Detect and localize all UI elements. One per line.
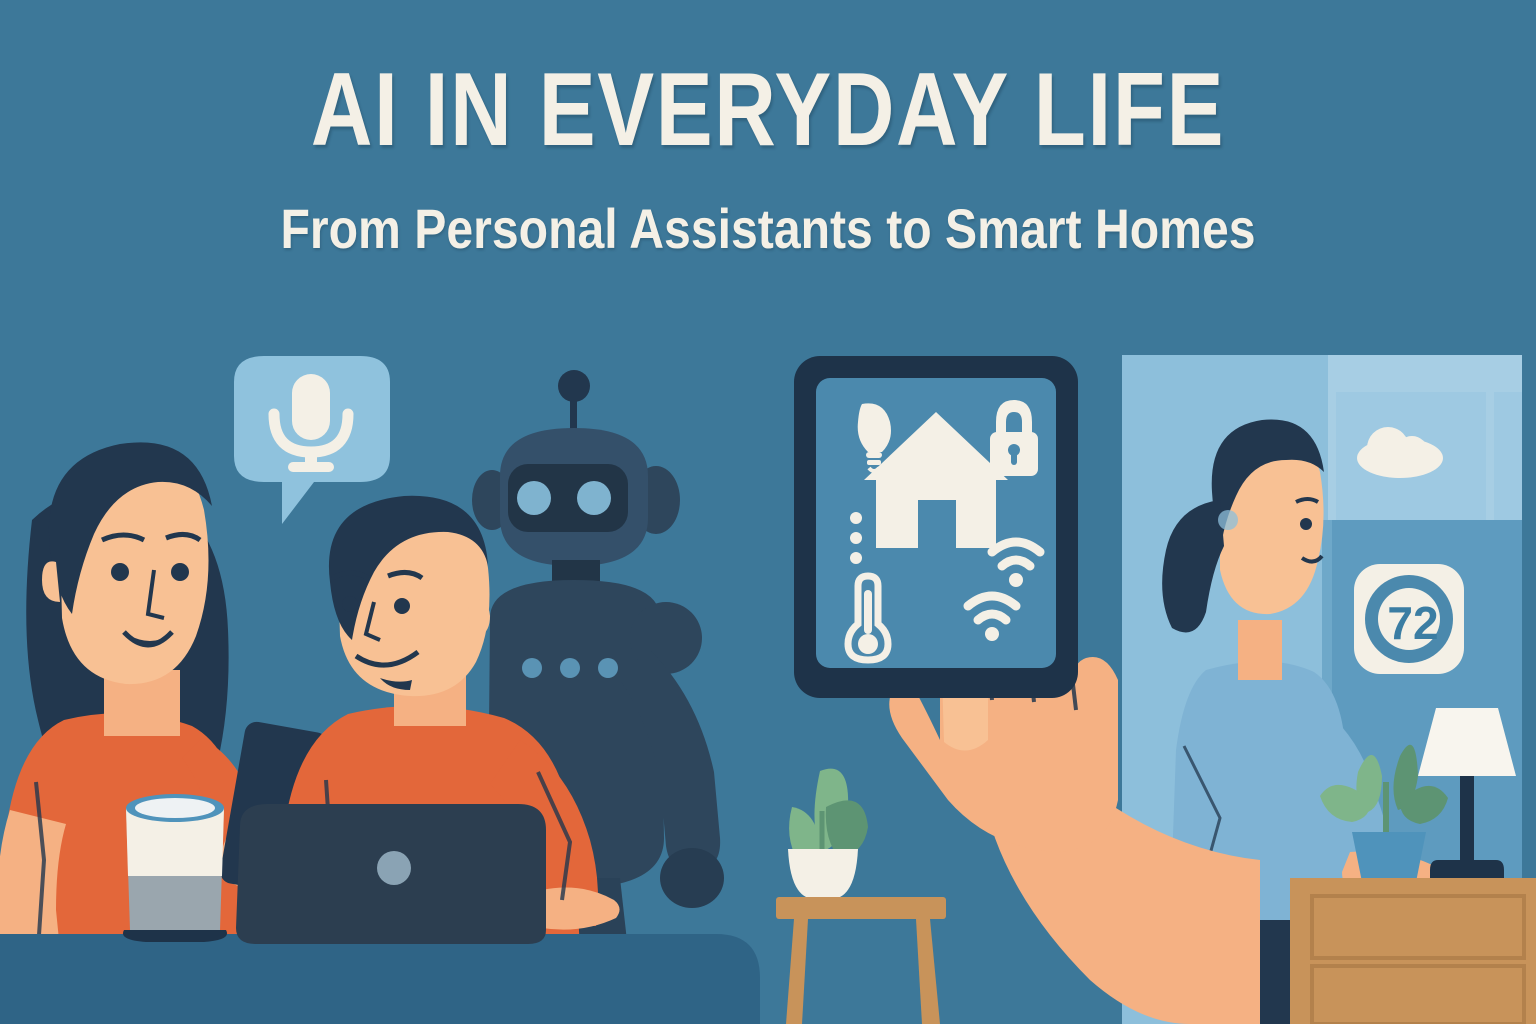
dots-icon <box>850 512 862 564</box>
antenna-ball <box>558 370 590 402</box>
eye <box>111 563 129 581</box>
lamp-base <box>1430 860 1504 878</box>
side-table-scene <box>770 755 980 1024</box>
plant-pot <box>1352 832 1426 882</box>
robot-hand <box>660 848 724 908</box>
dresser-scene <box>1290 700 1536 1024</box>
table-leg <box>786 919 808 1024</box>
smart-speaker[interactable] <box>110 784 240 944</box>
eye <box>342 596 358 612</box>
eye <box>394 598 410 614</box>
lamp-stem <box>1460 776 1474 872</box>
dresser-body <box>1290 878 1536 1024</box>
hair-tie <box>1218 510 1238 530</box>
potted-plant-center <box>788 769 868 897</box>
laptop-logo <box>377 851 411 885</box>
laptop[interactable] <box>228 796 558 956</box>
illustration-canvas: AI IN EVERYDAY LIFE From Personal Assist… <box>0 0 1536 1024</box>
plant-pot <box>788 849 858 897</box>
speaker-light <box>135 798 215 818</box>
table-leg <box>916 919 940 1024</box>
speaker-shadow <box>123 930 227 942</box>
lamp-shade <box>1418 708 1516 776</box>
ear <box>468 599 490 638</box>
eye <box>1300 518 1312 530</box>
eye <box>171 563 189 581</box>
smart-home-tablet[interactable] <box>790 352 1082 702</box>
table-top <box>776 897 946 919</box>
